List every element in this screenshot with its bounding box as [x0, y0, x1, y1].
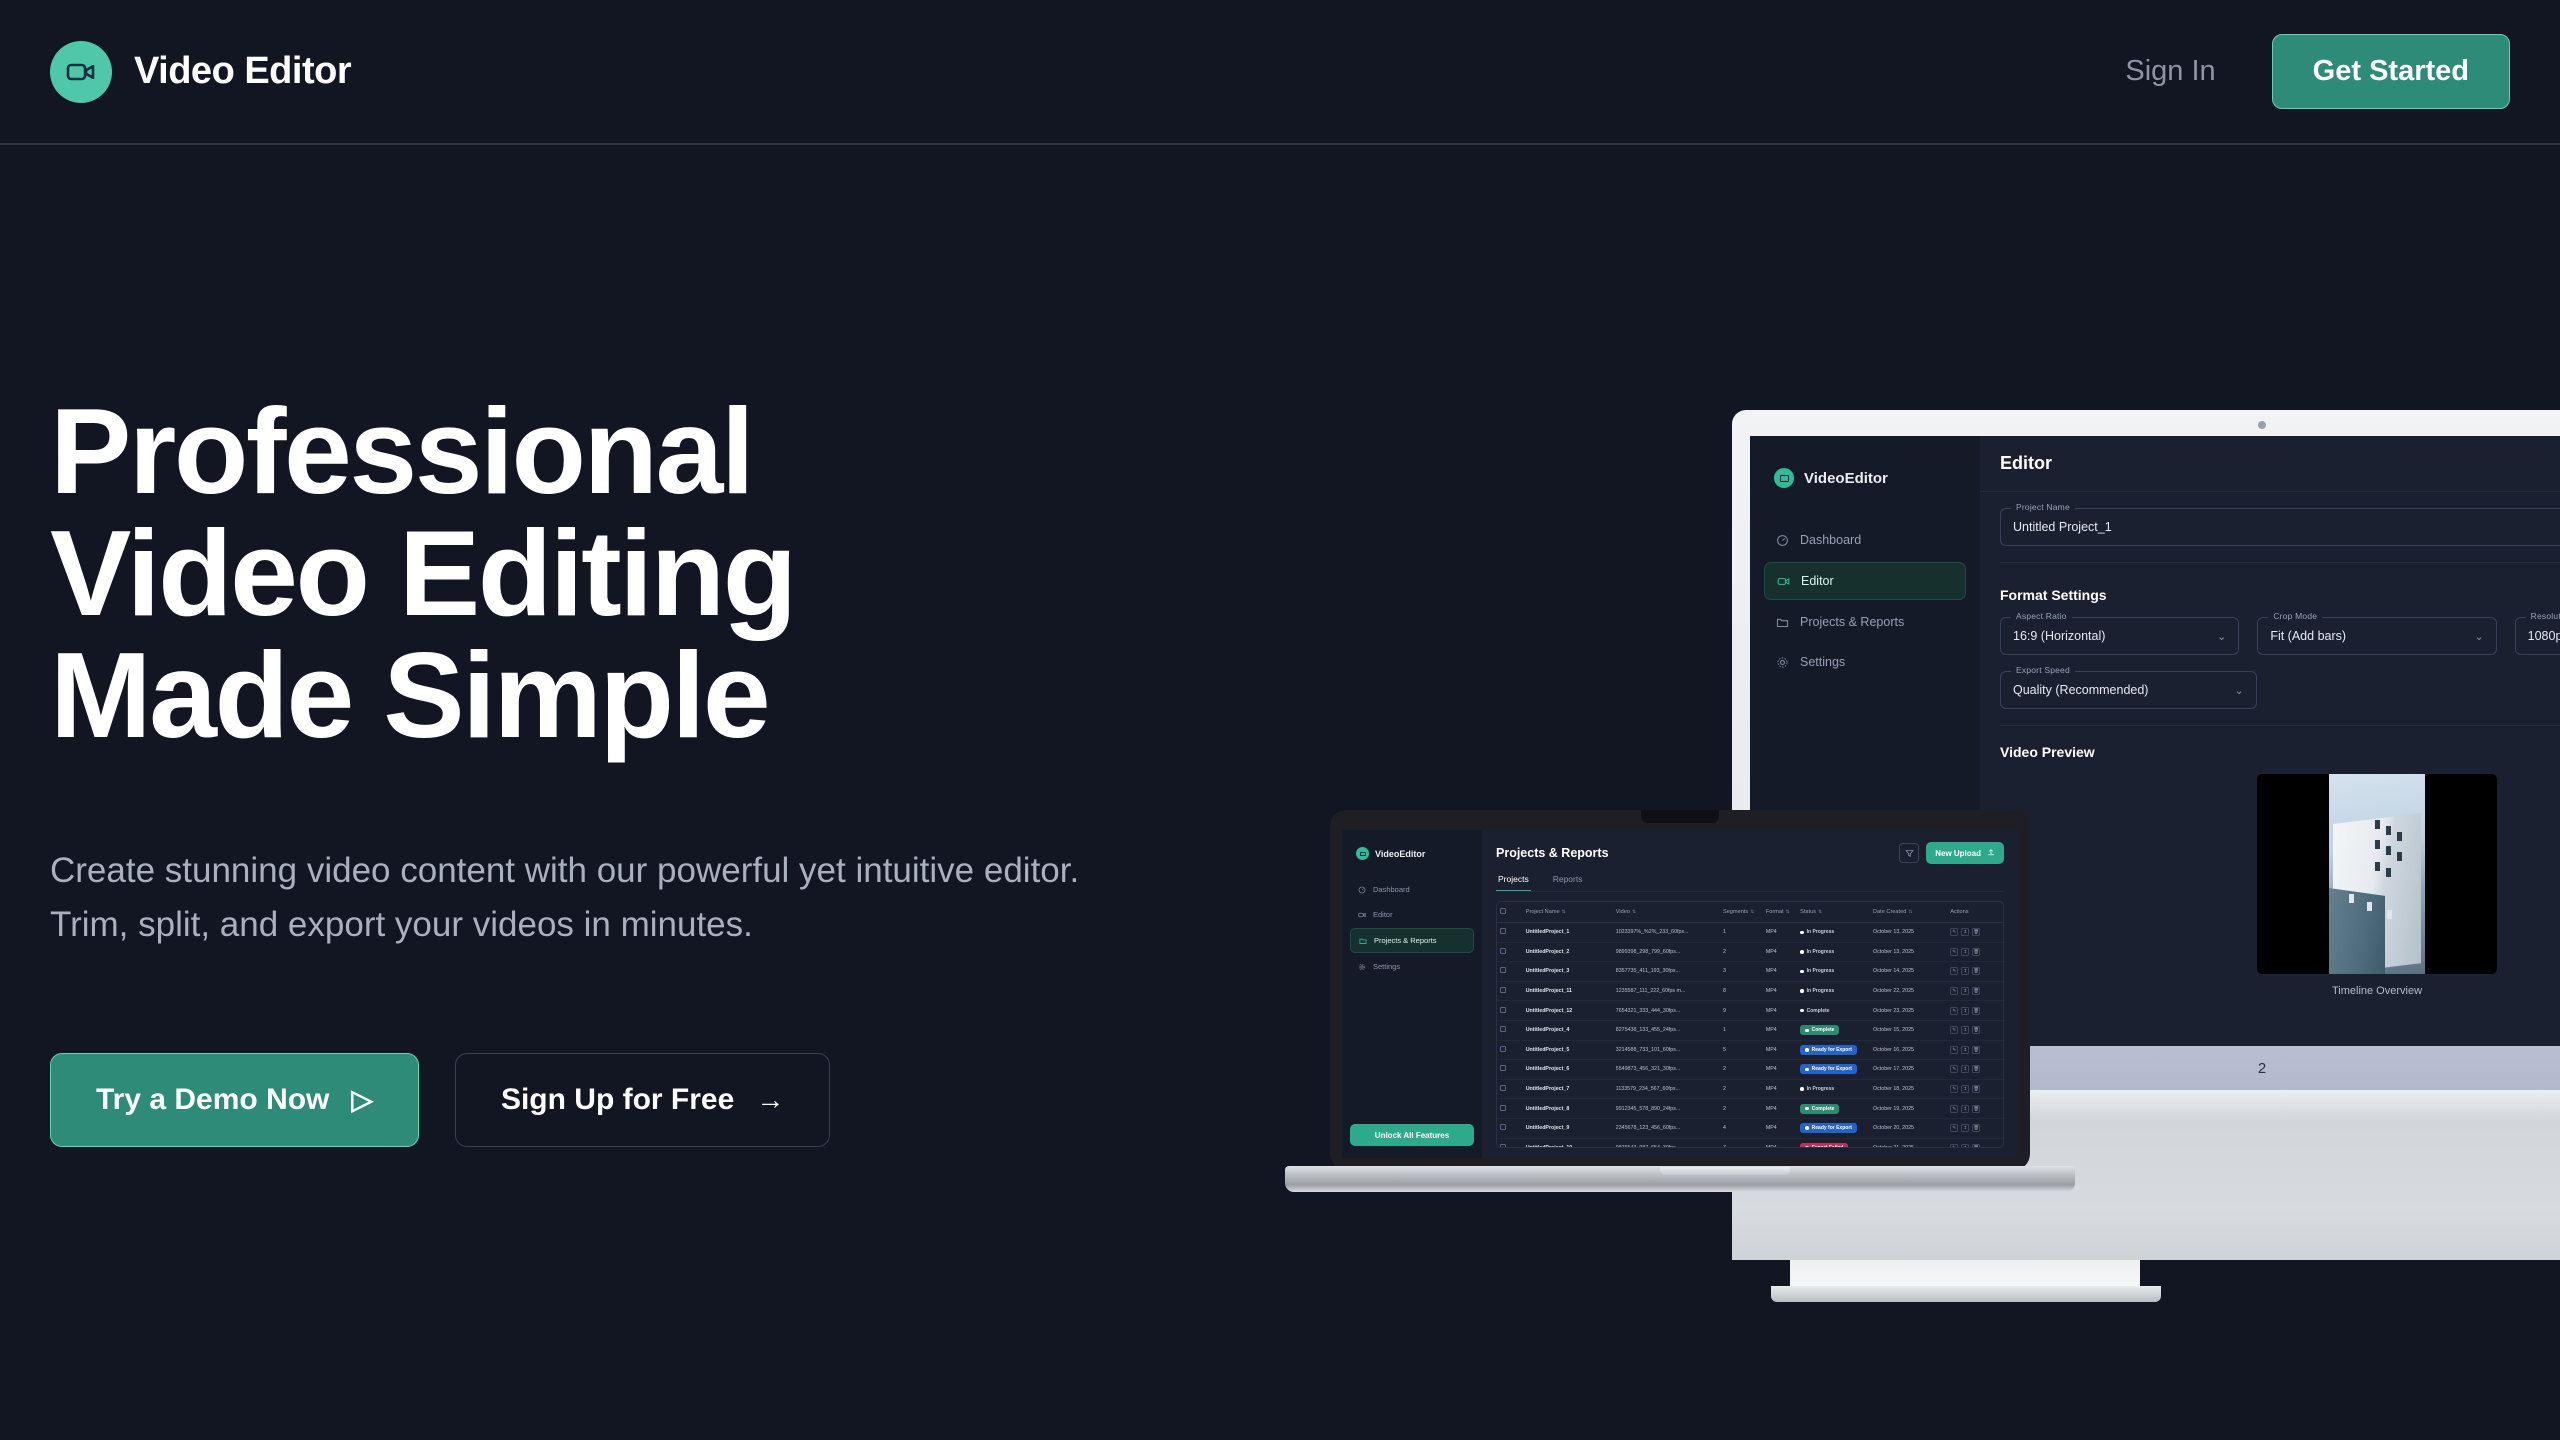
delete-icon[interactable]: 🗑	[1972, 1144, 1980, 1148]
export-icon[interactable]: ↥	[1961, 928, 1969, 936]
cell-segments: 1	[1720, 923, 1763, 943]
delete-icon[interactable]: 🗑	[1972, 948, 1980, 956]
upload-icon	[1987, 848, 1995, 858]
video-preview-title: Video Preview	[2000, 744, 2095, 760]
project-name-field[interactable]: Project Name Untitled Project_1	[2000, 508, 2560, 546]
export-speed-select[interactable]: Export Speed Quality (Recommended) ⌄	[2000, 671, 2257, 709]
gear-icon	[1358, 963, 1366, 971]
row-checkbox[interactable]	[1500, 1007, 1506, 1013]
cell-date-created: October 13, 2025	[1870, 942, 1947, 962]
crop-mode-select[interactable]: Crop Mode Fit (Add bars) ⌄	[2257, 617, 2496, 655]
gauge-icon	[1776, 534, 1789, 547]
delete-icon[interactable]: 🗑	[1972, 987, 1980, 995]
row-checkbox[interactable]	[1500, 987, 1506, 993]
row-checkbox-cell[interactable]	[1497, 1118, 1523, 1138]
projects-table: Project Name⇅ Video⇅ Segments⇅ Format⇅ S…	[1496, 901, 2004, 1148]
row-checkbox-cell[interactable]	[1497, 1099, 1523, 1119]
cell-date-created: October 13, 2025	[1870, 923, 1947, 943]
cell-actions: ✎↥🗑	[1947, 1020, 2003, 1040]
cell-date-created: October 15, 2025	[1870, 1020, 1947, 1040]
hero-section: Professional Video Editing Made Simple C…	[50, 390, 1250, 1147]
status-badge: In Progress	[1800, 986, 1839, 996]
row-checkbox-cell[interactable]	[1497, 1079, 1523, 1099]
cell-segments: 3	[1720, 962, 1763, 982]
table-row[interactable]: UntitledProject_29899398_298_799_60fps..…	[1497, 942, 2003, 962]
cell-status: Complete	[1797, 1001, 1870, 1021]
cell-segments: 9	[1720, 1001, 1763, 1021]
table-row[interactable]: UntitledProject_127654321_333_444_30fps.…	[1497, 1001, 2003, 1021]
export-speed-label: Export Speed	[2011, 665, 2075, 675]
gauge-icon	[1358, 886, 1366, 894]
sidebar-item-editor[interactable]: Editor	[1764, 562, 1966, 600]
editor-page-title: Editor	[2000, 453, 2052, 474]
sidebar-item-projects-reports[interactable]: Projects & Reports	[1350, 928, 1474, 953]
cell-project-name: UntitledProject_11	[1523, 981, 1613, 1001]
delete-icon[interactable]: 🗑	[1972, 1007, 1980, 1015]
tab-reports[interactable]: Reports	[1551, 874, 1585, 891]
brand-logo-group[interactable]: Video Editor	[50, 41, 351, 103]
sidebar-label: Settings	[1800, 655, 1845, 669]
cell-segments: 8	[1720, 981, 1763, 1001]
table-body: UntitledProject_11023397%_%2%_233_60fps.…	[1497, 923, 2003, 1149]
gear-icon	[1776, 656, 1789, 669]
delete-icon[interactable]: 🗑	[1972, 1085, 1980, 1093]
cell-project-name: UntitledProject_5	[1523, 1040, 1613, 1060]
video-camera-icon	[1774, 468, 1794, 488]
monitor-foot	[1771, 1286, 2161, 1302]
format-settings-title: Format Settings	[2000, 587, 2560, 603]
edit-icon[interactable]: ✎	[1950, 1065, 1958, 1073]
cell-actions: ✎↥🗑	[1947, 1060, 2003, 1080]
cell-format: MP4	[1763, 1138, 1797, 1148]
crop-mode-value: Fit (Add bars)	[2270, 629, 2346, 643]
projects-sidebar: VideoEditor Dashboard	[1342, 830, 1482, 1158]
col-status[interactable]: Status⇅	[1797, 902, 1870, 923]
status-badge: Complete	[1800, 1006, 1834, 1016]
projects-brand-name: VideoEditor	[1375, 849, 1425, 859]
row-checkbox-cell[interactable]	[1497, 923, 1523, 943]
cell-video: 1023397%_%2%_233_60fps...	[1613, 923, 1720, 943]
laptop-notch	[1641, 810, 1719, 823]
site-header: Video Editor Sign In Get Started	[0, 0, 2560, 145]
aspect-ratio-label: Aspect Ratio	[2011, 611, 2072, 621]
header-actions: Sign In Get Started	[2125, 34, 2510, 109]
table-row[interactable]: UntitledProject_11023397%_%2%_233_60fps.…	[1497, 923, 2003, 943]
table-row[interactable]: UntitledProject_111235587_111_222_60fps …	[1497, 981, 2003, 1001]
cell-date-created: October 21, 2025	[1870, 1138, 1947, 1148]
row-checkbox[interactable]	[1500, 928, 1506, 934]
table-header-row: Project Name⇅ Video⇅ Segments⇅ Format⇅ S…	[1497, 902, 2003, 923]
video-camera-icon	[50, 41, 112, 103]
unlock-all-features-button[interactable]: Unlock All Features	[1350, 1124, 1474, 1146]
cell-format: MP4	[1763, 1020, 1797, 1040]
cell-video: 1133579_234_567_60fps...	[1613, 1079, 1720, 1099]
projects-nav: Dashboard Editor	[1350, 878, 1474, 978]
sidebar-label: Editor	[1373, 910, 1393, 919]
arrow-right-icon: →	[756, 1086, 784, 1114]
row-checkbox-cell[interactable]	[1497, 981, 1523, 1001]
row-checkbox[interactable]	[1500, 1144, 1506, 1148]
row-checkbox-cell[interactable]	[1497, 1060, 1523, 1080]
export-icon[interactable]: ↥	[1961, 1105, 1969, 1113]
project-name-label: Project Name	[2011, 502, 2075, 512]
aspect-ratio-select[interactable]: Aspect Ratio 16:9 (Horizontal) ⌄	[2000, 617, 2239, 655]
cell-format: MP4	[1763, 962, 1797, 982]
cell-project-name: UntitledProject_7	[1523, 1079, 1613, 1099]
divider	[2000, 562, 2560, 563]
cell-actions: ✎↥🗑	[1947, 1099, 2003, 1119]
new-upload-label: New Upload	[1935, 849, 1981, 858]
col-segments[interactable]: Segments⇅	[1720, 902, 1763, 923]
sidebar-label: Dashboard	[1373, 885, 1410, 894]
row-checkbox-cell[interactable]	[1497, 1001, 1523, 1021]
filter-funnel-icon[interactable]	[1899, 843, 1919, 863]
cell-status: In Progress	[1797, 1079, 1870, 1099]
editor-nav: Dashboard Editor Projects	[1764, 522, 1966, 680]
col-project-name[interactable]: Project Name⇅	[1523, 902, 1613, 923]
delete-icon[interactable]: 🗑	[1972, 967, 1980, 975]
export-icon[interactable]: ↥	[1961, 1007, 1969, 1015]
cell-actions: ✎↥🗑	[1947, 1138, 2003, 1148]
status-badge: In Progress	[1800, 966, 1839, 976]
cell-format: MP4	[1763, 1060, 1797, 1080]
cell-project-name: UntitledProject_8	[1523, 1099, 1613, 1119]
status-badge: In Progress	[1800, 927, 1839, 937]
status-badge: Ready for Export	[1800, 1123, 1857, 1133]
hero-title-line-1: Professional	[50, 390, 1250, 512]
cell-actions: ✎↥🗑	[1947, 962, 2003, 982]
cell-date-created: October 16, 2025	[1870, 1040, 1947, 1060]
cell-format: MP4	[1763, 981, 1797, 1001]
cell-video: 2345678_123_456_60fps...	[1613, 1118, 1720, 1138]
edit-icon[interactable]: ✎	[1950, 1085, 1958, 1093]
row-checkbox-cell[interactable]	[1497, 1138, 1523, 1148]
table-row[interactable]: UntitledProject_48275438_133_455_24fps..…	[1497, 1020, 2003, 1040]
sidebar-label: Dashboard	[1800, 533, 1861, 547]
delete-icon[interactable]: 🗑	[1972, 1065, 1980, 1073]
row-checkbox[interactable]	[1500, 1124, 1506, 1130]
status-badge: In Progress	[1800, 947, 1839, 957]
edit-icon[interactable]: ✎	[1950, 1007, 1958, 1015]
edit-icon[interactable]: ✎	[1950, 1046, 1958, 1054]
edit-icon[interactable]: ✎	[1950, 928, 1958, 936]
video-player[interactable]	[2257, 774, 2497, 974]
try-demo-label: Try a Demo Now	[96, 1083, 329, 1117]
cell-actions: ✎↥🗑	[1947, 1001, 2003, 1021]
hero-subtitle: Create stunning video content with our p…	[50, 844, 1150, 953]
cell-segments: 2	[1720, 1099, 1763, 1119]
cell-segments: 7	[1720, 1138, 1763, 1148]
cell-segments: 5	[1720, 1040, 1763, 1060]
export-icon[interactable]: ↥	[1961, 1065, 1969, 1073]
projects-app-screen: VideoEditor Dashboard	[1342, 830, 2018, 1158]
edit-icon[interactable]: ✎	[1950, 948, 1958, 956]
webcam-icon	[2258, 421, 2266, 429]
cell-video: 5549873_456_321_30fps...	[1613, 1060, 1720, 1080]
chevron-down-icon: ⌄	[2474, 630, 2483, 643]
col-format[interactable]: Format⇅	[1763, 902, 1797, 923]
status-badge: Complete	[1800, 1025, 1839, 1035]
col-video[interactable]: Video⇅	[1613, 902, 1720, 923]
folder-icon	[1359, 937, 1367, 945]
projects-main: Projects & Reports New Upload	[1482, 830, 2018, 1158]
col-date-created[interactable]: Date Created⇅	[1870, 902, 1947, 923]
delete-icon[interactable]: 🗑	[1972, 1026, 1980, 1034]
export-icon[interactable]: ↥	[1961, 948, 1969, 956]
cell-video: 1235587_111_222_60fps m...	[1613, 981, 1720, 1001]
product-mockup: VideoEditor Dashboard	[1330, 380, 2560, 1240]
video-camera-icon	[1358, 911, 1366, 919]
sidebar-label: Editor	[1801, 574, 1834, 588]
table-row[interactable]: UntitledProject_38357735_411_193_30fps..…	[1497, 962, 2003, 982]
cell-video: 3214588_733_101_60fps...	[1613, 1040, 1720, 1060]
cell-segments: 2	[1720, 942, 1763, 962]
cell-actions: ✎↥🗑	[1947, 1040, 2003, 1060]
cell-date-created: October 17, 2025	[1870, 1060, 1947, 1080]
cell-format: MP4	[1763, 923, 1797, 943]
page-title: Professional Video Editing Made Simple	[50, 390, 1250, 756]
cell-project-name: UntitledProject_9	[1523, 1118, 1613, 1138]
sidebar-item-projects-reports[interactable]: Projects & Reports	[1764, 604, 1966, 640]
edit-icon[interactable]: ✎	[1950, 967, 1958, 975]
delete-icon[interactable]: 🗑	[1972, 1046, 1980, 1054]
cell-project-name: UntitledProject_2	[1523, 942, 1613, 962]
sidebar-label: Projects & Reports	[1374, 936, 1437, 945]
status-badge: Complete	[1800, 1104, 1839, 1114]
cell-segments: 4	[1720, 1118, 1763, 1138]
folder-icon	[1776, 616, 1789, 629]
row-checkbox[interactable]	[1500, 1065, 1506, 1071]
cell-status: In Progress	[1797, 981, 1870, 1001]
crop-mode-label: Crop Mode	[2268, 611, 2322, 621]
select-all-checkbox[interactable]	[1500, 908, 1506, 914]
sign-up-free-label: Sign Up for Free	[501, 1083, 734, 1117]
projects-header: Projects & Reports New Upload	[1496, 842, 2004, 864]
table-row[interactable]: UntitledProject_89912345_578_890_24fps..…	[1497, 1099, 2003, 1119]
landing-page: Video Editor Sign In Get Started Profess…	[0, 0, 2560, 1440]
col-select[interactable]	[1497, 902, 1523, 923]
format-settings-row-1: Aspect Ratio 16:9 (Horizontal) ⌄ Crop Mo…	[2000, 617, 2560, 655]
export-icon[interactable]: ↥	[1961, 1026, 1969, 1034]
cell-format: MP4	[1763, 1040, 1797, 1060]
cell-segments: 1	[1720, 1020, 1763, 1040]
cell-video: 8357735_411_193_30fps...	[1613, 962, 1720, 982]
cell-video: 7654321_333_444_30fps...	[1613, 1001, 1720, 1021]
video-camera-icon	[1356, 847, 1369, 860]
projects-header-actions: New Upload	[1899, 842, 2004, 864]
cell-status: Ready for Export	[1797, 1118, 1870, 1138]
table-row[interactable]: UntitledProject_109876543_987_654_30fps.…	[1497, 1138, 2003, 1148]
export-icon[interactable]: ↥	[1961, 1046, 1969, 1054]
try-demo-button[interactable]: Try a Demo Now ▷	[50, 1053, 419, 1147]
cell-status: Complete	[1797, 1020, 1870, 1040]
row-checkbox-cell[interactable]	[1497, 962, 1523, 982]
video-frame-thumbnail	[2329, 774, 2425, 974]
cell-actions: ✎↥🗑	[1947, 942, 2003, 962]
delete-icon[interactable]: 🗑	[1972, 928, 1980, 936]
export-icon[interactable]: ↥	[1961, 967, 1969, 975]
sign-in-link[interactable]: Sign In	[2125, 55, 2215, 88]
cell-actions: ✎↥🗑	[1947, 981, 2003, 1001]
cell-segments: 2	[1720, 1079, 1763, 1099]
new-upload-button[interactable]: New Upload	[1926, 842, 2004, 864]
cell-format: MP4	[1763, 1079, 1797, 1099]
cell-format: MP4	[1763, 942, 1797, 962]
cell-date-created: October 23, 2025	[1870, 1001, 1947, 1021]
cell-date-created: October 19, 2025	[1870, 1099, 1947, 1119]
laptop-device: VideoEditor Dashboard	[1330, 810, 2120, 1240]
cell-format: MP4	[1763, 1099, 1797, 1119]
row-checkbox[interactable]	[1500, 967, 1506, 973]
row-checkbox-cell[interactable]	[1497, 942, 1523, 962]
play-triangle-icon: ▷	[351, 1086, 373, 1114]
cell-status: Ready for Export	[1797, 1060, 1870, 1080]
projects-tabs: Projects Reports	[1496, 874, 2004, 892]
edit-icon[interactable]: ✎	[1950, 1124, 1958, 1132]
sidebar-item-dashboard[interactable]: Dashboard	[1350, 878, 1474, 901]
delete-icon[interactable]: 🗑	[1972, 1124, 1980, 1132]
export-icon[interactable]: ↥	[1961, 987, 1969, 995]
laptop-trackpad-notch	[1660, 1167, 1790, 1175]
cell-video: 9912345_578_890_24fps...	[1613, 1099, 1720, 1119]
row-checkbox[interactable]	[1500, 1026, 1506, 1032]
video-preview-header: Video Preview Video player size	[2000, 744, 2560, 760]
cell-status: In Progress	[1797, 923, 1870, 943]
export-icon[interactable]: ↥	[1961, 1144, 1969, 1148]
cell-date-created: October 18, 2025	[1870, 1079, 1947, 1099]
cell-date-created: October 22, 2025	[1870, 981, 1947, 1001]
cell-date-created: October 14, 2025	[1870, 962, 1947, 982]
status-badge: In Progress	[1800, 1084, 1839, 1094]
sidebar-item-dashboard[interactable]: Dashboard	[1764, 522, 1966, 558]
cell-status: Export Failed	[1797, 1138, 1870, 1148]
cell-status: Ready for Export	[1797, 1040, 1870, 1060]
delete-icon[interactable]: 🗑	[1972, 1105, 1980, 1113]
row-checkbox-cell[interactable]	[1497, 1020, 1523, 1040]
sidebar-item-settings[interactable]: Settings	[1764, 644, 1966, 680]
sidebar-label: Projects & Reports	[1800, 615, 1904, 629]
project-name-value: Untitled Project_1	[2013, 520, 2112, 534]
status-badge: Export Failed	[1800, 1143, 1848, 1148]
cell-video: 8275438_133_455_24fps...	[1613, 1020, 1720, 1040]
row-checkbox[interactable]	[1500, 1085, 1506, 1091]
cell-video: 9876543_987_654_30fps...	[1613, 1138, 1720, 1148]
resolution-select[interactable]: Resolution 1080p (1920x1080) ⌄	[2515, 617, 2560, 655]
cell-status: Complete	[1797, 1099, 1870, 1119]
sidebar-item-settings[interactable]: Settings	[1350, 955, 1474, 978]
get-started-button[interactable]: Get Started	[2272, 34, 2510, 109]
divider	[2000, 725, 2560, 726]
cell-status: In Progress	[1797, 962, 1870, 982]
cell-format: MP4	[1763, 1001, 1797, 1021]
cell-project-name: UntitledProject_12	[1523, 1001, 1613, 1021]
editor-brand: VideoEditor	[1774, 468, 1966, 488]
video-camera-icon	[1777, 575, 1790, 588]
cell-project-name: UntitledProject_4	[1523, 1020, 1613, 1040]
cell-date-created: October 20, 2025	[1870, 1118, 1947, 1138]
export-icon[interactable]: ↥	[1961, 1124, 1969, 1132]
brand-name: Video Editor	[134, 50, 351, 93]
cell-project-name: UntitledProject_6	[1523, 1060, 1613, 1080]
export-icon[interactable]: ↥	[1961, 1085, 1969, 1093]
chevron-down-icon: ⌄	[2234, 684, 2243, 697]
cell-project-name: UntitledProject_3	[1523, 962, 1613, 982]
col-actions: Actions	[1947, 902, 2003, 923]
aspect-ratio-value: 16:9 (Horizontal)	[2013, 629, 2105, 643]
cell-format: MP4	[1763, 1118, 1797, 1138]
sidebar-label: Settings	[1373, 962, 1400, 971]
projects-page-title: Projects & Reports	[1496, 846, 1609, 860]
table-row[interactable]: UntitledProject_92345678_123_456_60fps..…	[1497, 1118, 2003, 1138]
row-checkbox[interactable]	[1500, 1046, 1506, 1052]
sign-up-free-button[interactable]: Sign Up for Free →	[455, 1053, 830, 1147]
table-row[interactable]: UntitledProject_71133579_234_567_60fps..…	[1497, 1079, 2003, 1099]
edit-icon[interactable]: ✎	[1950, 1144, 1958, 1148]
hero-cta-group: Try a Demo Now ▷ Sign Up for Free →	[50, 1053, 1250, 1147]
resolution-value: 1080p (1920x1080)	[2528, 629, 2560, 643]
cell-actions: ✎↥🗑	[1947, 1118, 2003, 1138]
resolution-label: Resolution	[2526, 611, 2560, 621]
cell-actions: ✎↥🗑	[1947, 1079, 2003, 1099]
editor-topbar: Editor Save Export	[1980, 436, 2560, 492]
projects-brand: VideoEditor	[1356, 847, 1474, 860]
cell-segments: 2	[1720, 1060, 1763, 1080]
hero-title-line-3: Made Simple	[50, 634, 1250, 756]
sidebar-item-editor[interactable]: Editor	[1350, 903, 1474, 926]
cell-actions: ✎↥🗑	[1947, 923, 2003, 943]
edit-icon[interactable]: ✎	[1950, 987, 1958, 995]
row-checkbox[interactable]	[1500, 948, 1506, 954]
laptop-lid: VideoEditor Dashboard	[1330, 810, 2030, 1170]
building-shape-secondary	[2329, 888, 2385, 974]
table-row[interactable]: UntitledProject_65549873_456_321_30fps..…	[1497, 1060, 2003, 1080]
export-speed-value: Quality (Recommended)	[2013, 683, 2148, 697]
edit-icon[interactable]: ✎	[1950, 1105, 1958, 1113]
edit-icon[interactable]: ✎	[1950, 1026, 1958, 1034]
format-settings-row-2: Export Speed Quality (Recommended) ⌄	[2000, 671, 2560, 709]
hero-title-line-2: Video Editing	[50, 512, 1250, 634]
status-badge: Ready for Export	[1800, 1064, 1857, 1074]
cell-status: In Progress	[1797, 942, 1870, 962]
cell-video: 9899398_298_799_60fps...	[1613, 942, 1720, 962]
row-checkbox-cell[interactable]	[1497, 1040, 1523, 1060]
status-badge: Ready for Export	[1800, 1045, 1857, 1055]
chin-text: 2	[2258, 1060, 2266, 1077]
cell-project-name: UntitledProject_10	[1523, 1138, 1613, 1148]
cell-project-name: UntitledProject_1	[1523, 923, 1613, 943]
tab-projects[interactable]: Projects	[1496, 874, 1531, 891]
chevron-down-icon: ⌄	[2217, 630, 2226, 643]
editor-brand-name: VideoEditor	[1804, 470, 1888, 487]
table-row[interactable]: UntitledProject_53214588_733_101_60fps..…	[1497, 1040, 2003, 1060]
row-checkbox[interactable]	[1500, 1105, 1506, 1111]
